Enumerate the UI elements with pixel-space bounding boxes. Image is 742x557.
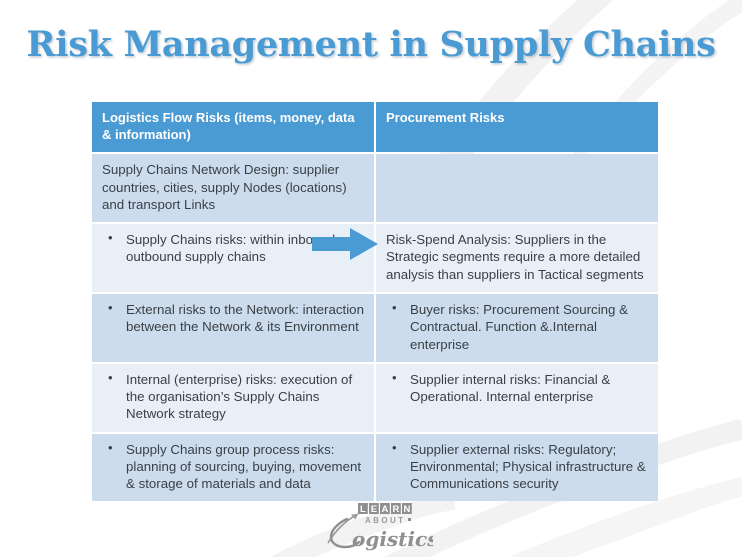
cell-procurement-row-5: Supplier external risks: Regulatory; Env…: [376, 434, 658, 502]
list-item: Supply Chains group process risks: plann…: [102, 441, 364, 493]
bullet-list: Supplier internal risks: Financial & Ope…: [386, 371, 648, 406]
svg-text:A: A: [381, 504, 388, 515]
svg-text:ogistics: ogistics: [352, 527, 433, 551]
table-row: Supply Chains risks: within inbound and …: [92, 224, 658, 292]
table-header-row: Logistics Flow Risks (items, money, data…: [92, 102, 658, 152]
table-body: Supply Chains Network Design: supplier c…: [92, 154, 658, 501]
list-item: Internal (enterprise) risks: execution o…: [102, 371, 364, 423]
cell-logistics-row-2: Supply Chains risks: within inbound and …: [92, 224, 374, 292]
list-item: External risks to the Network: interacti…: [102, 301, 364, 336]
cell-procurement-row-1: [376, 154, 658, 222]
column-header-logistics-flow-risks: Logistics Flow Risks (items, money, data…: [92, 102, 374, 152]
table-row: External risks to the Network: interacti…: [92, 294, 658, 362]
logo-about-text: ABOUT: [365, 516, 411, 525]
bullet-list: Supply Chains group process risks: plann…: [102, 441, 364, 493]
risk-table: Logistics Flow Risks (items, money, data…: [90, 100, 660, 503]
risk-table-container: Logistics Flow Risks (items, money, data…: [90, 100, 654, 503]
cell-logistics-row-3: External risks to the Network: interacti…: [92, 294, 374, 362]
bullet-list: Internal (enterprise) risks: execution o…: [102, 371, 364, 423]
cell-text: Risk-Spend Analysis: Suppliers in the St…: [386, 231, 648, 283]
list-item: Supply Chains risks: within inbound and …: [102, 231, 364, 266]
cell-logistics-row-1: Supply Chains Network Design: supplier c…: [92, 154, 374, 222]
cell-procurement-row-3: Buyer risks: Procurement Sourcing & Cont…: [376, 294, 658, 362]
list-item: Buyer risks: Procurement Sourcing & Cont…: [386, 301, 648, 353]
table-header: Logistics Flow Risks (items, money, data…: [92, 102, 658, 152]
bullet-list: External risks to the Network: interacti…: [102, 301, 364, 336]
bullet-list: Supply Chains risks: within inbound and …: [102, 231, 364, 266]
logo-learn-boxes: L E A R N: [358, 503, 412, 515]
list-item: Supplier external risks: Regulatory; Env…: [386, 441, 648, 493]
cell-text: Supply Chains Network Design: supplier c…: [102, 161, 364, 213]
svg-text:ABOUT: ABOUT: [365, 516, 405, 525]
list-item: Supplier internal risks: Financial & Ope…: [386, 371, 648, 406]
cell-logistics-row-5: Supply Chains group process risks: plann…: [92, 434, 374, 502]
table-row: Supply Chains group process risks: plann…: [92, 434, 658, 502]
svg-text:R: R: [392, 504, 399, 515]
cell-procurement-row-4: Supplier internal risks: Financial & Ope…: [376, 364, 658, 432]
svg-text:L: L: [360, 504, 366, 515]
bullet-list: Supplier external risks: Regulatory; Env…: [386, 441, 648, 493]
svg-text:E: E: [371, 504, 377, 515]
cell-logistics-row-4: Internal (enterprise) risks: execution o…: [92, 364, 374, 432]
svg-text:N: N: [403, 504, 410, 515]
brand-logo: L E A R N ABOUT ogistics: [325, 497, 433, 553]
page-title: Risk Management in Supply Chains: [0, 24, 742, 65]
slide-canvas: Risk Management in Supply Chains Logisti…: [0, 0, 742, 557]
cell-procurement-row-2: Risk-Spend Analysis: Suppliers in the St…: [376, 224, 658, 292]
bullet-list: Buyer risks: Procurement Sourcing & Cont…: [386, 301, 648, 353]
column-header-procurement-risks: Procurement Risks: [376, 102, 658, 152]
table-row: Supply Chains Network Design: supplier c…: [92, 154, 658, 222]
table-row: Internal (enterprise) risks: execution o…: [92, 364, 658, 432]
